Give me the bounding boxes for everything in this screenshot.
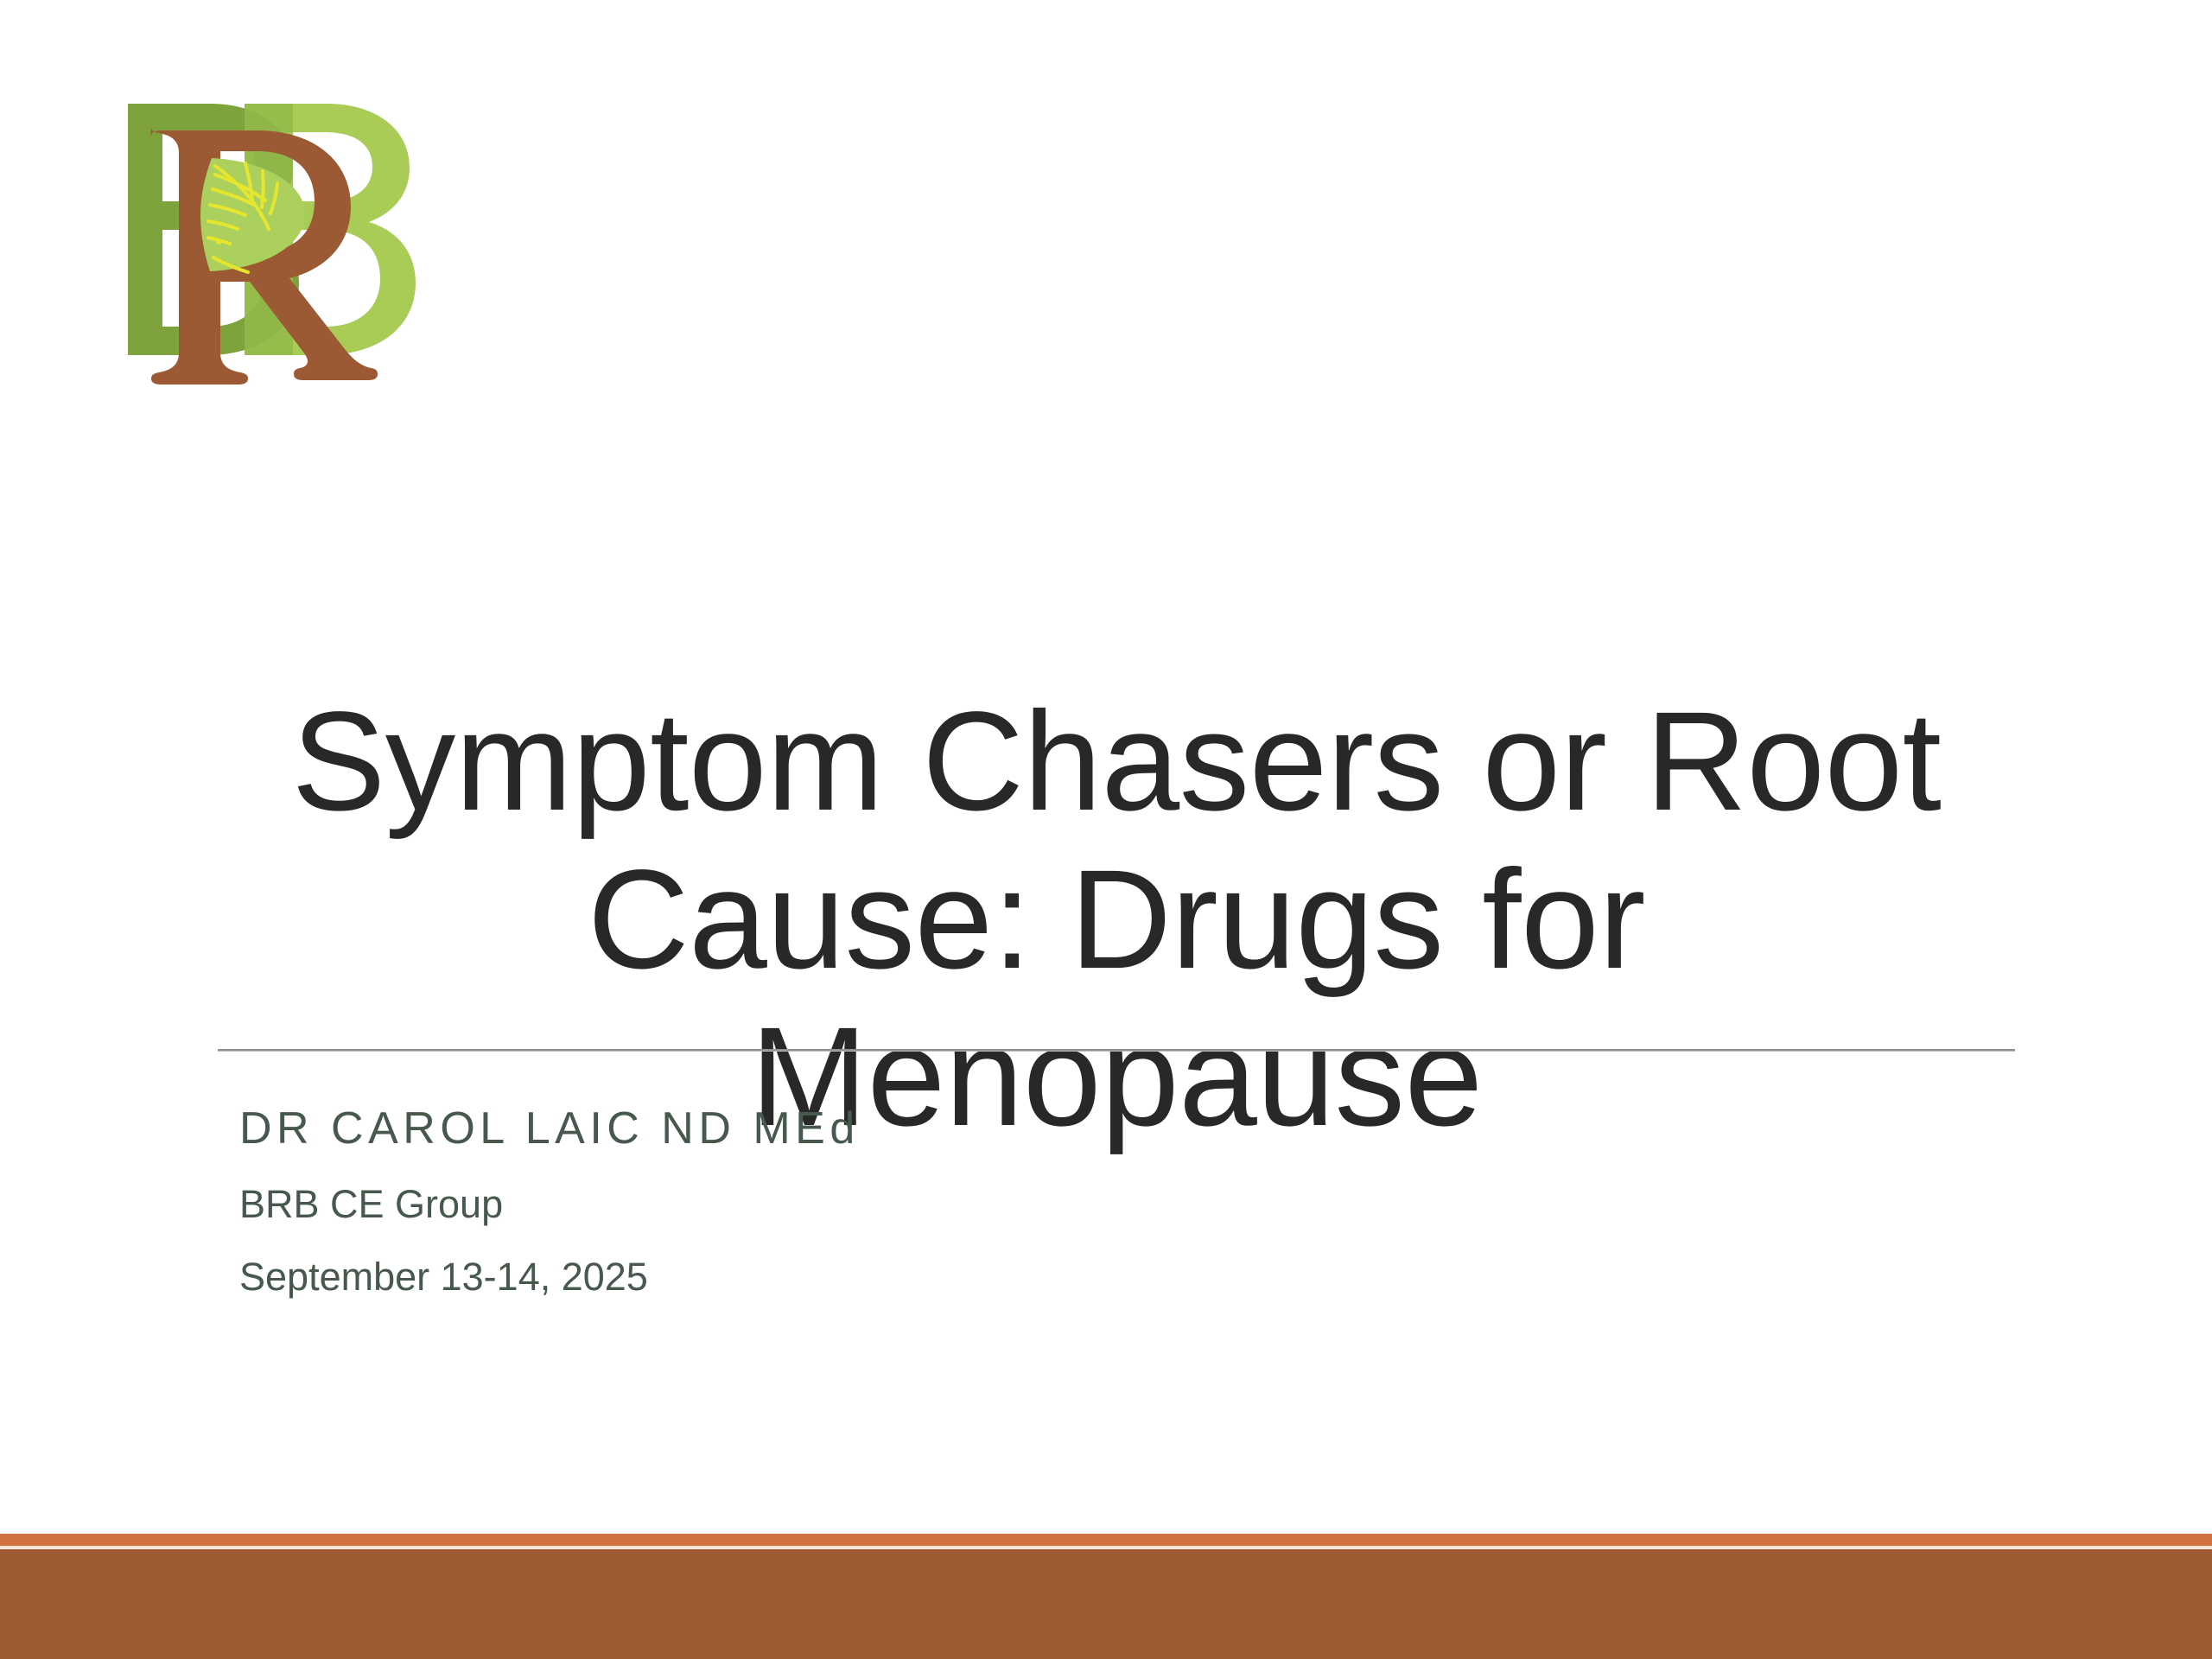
title-divider <box>218 1049 2015 1052</box>
presentation-slide: Symptom Chasers or Root Cause: Drugs for… <box>0 0 2212 1659</box>
page-title: Symptom Chasers or Root Cause: Drugs for… <box>218 683 2015 1156</box>
presenter-name: DR CAROL LAIC ND MEd <box>239 1104 1881 1153</box>
title-block: Symptom Chasers or Root Cause: Drugs for… <box>218 683 2015 1156</box>
subtitle-block: DR CAROL LAIC ND MEd BRB CE Group Septem… <box>239 1104 1881 1298</box>
event-date: September 13-14, 2025 <box>239 1256 1881 1299</box>
brb-logo <box>93 76 439 387</box>
footer-accent-band-light <box>0 1534 2212 1546</box>
footer-accent-band-dark <box>0 1549 2212 1659</box>
organization-name: BRB CE Group <box>239 1184 1881 1226</box>
